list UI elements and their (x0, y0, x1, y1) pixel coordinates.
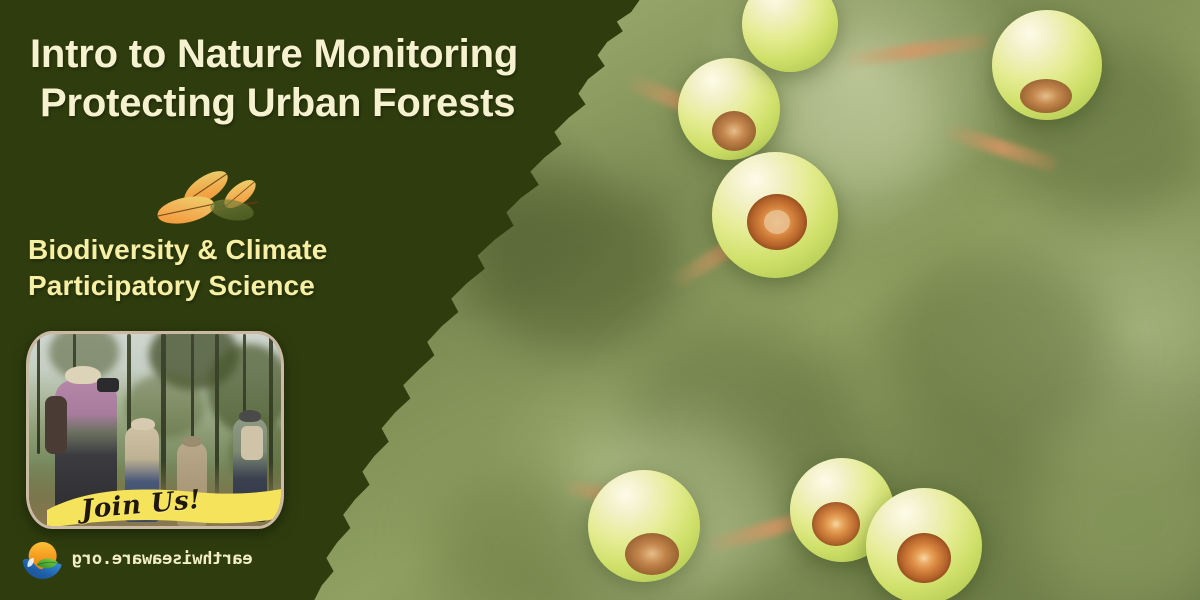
participant-hat (131, 418, 155, 430)
photo-card: Join Us! (26, 331, 284, 529)
participant-hat (65, 366, 101, 384)
binoculars (97, 378, 119, 392)
title-line-1: Intro to Nature Monitoring (30, 30, 590, 79)
forest-photo: Join Us! (29, 334, 281, 526)
backpack (45, 396, 67, 454)
tree-trunk (37, 334, 40, 454)
banner-content: Intro to Nature Monitoring Protecting Ur… (0, 0, 1200, 600)
title-line-2: Protecting Urban Forests (30, 79, 590, 128)
footer-branding: earthwiseaware.org (22, 538, 253, 580)
event-banner: Intro to Nature Monitoring Protecting Ur… (0, 0, 1200, 600)
website-url[interactable]: earthwiseaware.org (72, 549, 253, 569)
event-title: Intro to Nature Monitoring Protecting Ur… (30, 30, 590, 128)
subtitle-line-2: Participatory Science (28, 268, 468, 304)
earthwise-aware-logo (22, 538, 64, 580)
leaf-sprig-icon (148, 158, 278, 230)
participant-hat (182, 436, 202, 447)
backpack (241, 426, 263, 460)
subtitle-line-1: Biodiversity & Climate (28, 232, 468, 268)
participant-hat (239, 410, 261, 422)
event-subtitle: Biodiversity & Climate Participatory Sci… (28, 232, 468, 304)
